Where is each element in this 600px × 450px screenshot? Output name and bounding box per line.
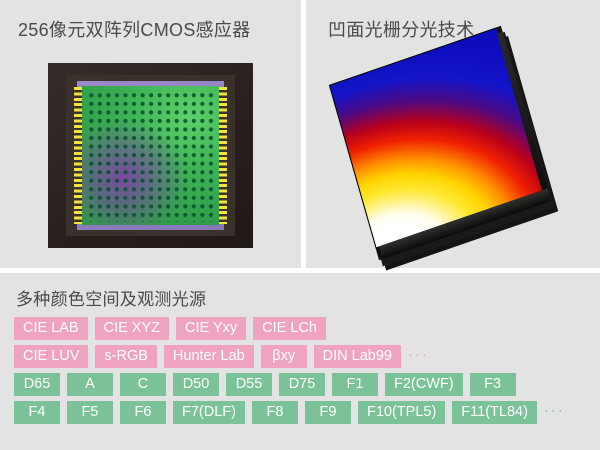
tag-cie-xyz[interactable]: CIE XYZ xyxy=(95,317,169,340)
concave-grating-illustration xyxy=(331,30,576,250)
tag-f8[interactable]: F8 xyxy=(252,401,298,424)
tag-row-ellipsis[interactable]: ··· xyxy=(544,403,565,422)
tag-s-rgb[interactable]: s-RGB xyxy=(95,345,157,368)
tag-cie-lab[interactable]: CIE LAB xyxy=(14,317,88,340)
tag-cie-lch[interactable]: CIE LCh xyxy=(253,317,326,340)
tag-d75[interactable]: D75 xyxy=(279,373,325,396)
tag-d55[interactable]: D55 xyxy=(226,373,272,396)
tag-row: D65ACD50D55D75F1F2(CWF)F3 xyxy=(14,373,594,396)
tag-f10-tpl5[interactable]: F10(TPL5) xyxy=(358,401,445,424)
tag-row: CIE LABCIE XYZCIE YxyCIE LCh xyxy=(14,317,594,340)
tag-f7-dlf[interactable]: F7(DLF) xyxy=(173,401,245,424)
tag-hunter-lab[interactable]: Hunter Lab xyxy=(164,345,254,368)
tag-row: CIE LUVs-RGBHunter LabβxyDIN Lab99··· xyxy=(14,345,594,368)
grating-plate xyxy=(329,26,551,260)
tag-xy[interactable]: βxy xyxy=(261,345,307,368)
tag-group-container: CIE LABCIE XYZCIE YxyCIE LChCIE LUVs-RGB… xyxy=(14,317,594,429)
tag-f5[interactable]: F5 xyxy=(67,401,113,424)
tag-row-ellipsis[interactable]: ··· xyxy=(408,347,429,366)
sensor-pins-left xyxy=(74,87,82,224)
tag-row: F4F5F6F7(DLF)F8F9F10(TPL5)F11(TL84)··· xyxy=(14,401,594,424)
panel-cmos-sensor: 256像元双阵列CMOS感应器 xyxy=(0,0,301,268)
tag-f6[interactable]: F6 xyxy=(120,401,166,424)
tag-c[interactable]: C xyxy=(120,373,166,396)
tag-f1[interactable]: F1 xyxy=(332,373,378,396)
page-title-cmos-sensor: 256像元双阵列CMOS感应器 xyxy=(18,16,251,42)
tag-d65[interactable]: D65 xyxy=(14,373,60,396)
page-title-color-spaces: 多种颜色空间及观测光源 xyxy=(16,285,206,310)
sensor-pins-right xyxy=(219,87,227,224)
sensor-photodiode-array xyxy=(82,86,219,225)
tag-f9[interactable]: F9 xyxy=(305,401,351,424)
tag-f3[interactable]: F3 xyxy=(470,373,516,396)
product-feature-board: 256像元双阵列CMOS感应器 凹面光栅分光技术 多种颜色空间及观测光源 CIE… xyxy=(0,0,600,450)
tag-f4[interactable]: F4 xyxy=(14,401,60,424)
cmos-sensor-illustration xyxy=(48,63,253,248)
tag-cie-luv[interactable]: CIE LUV xyxy=(14,345,88,368)
panel-color-spaces-illuminants: 多种颜色空间及观测光源 CIE LABCIE XYZCIE YxyCIE LCh… xyxy=(0,273,600,450)
sensor-pixel-dot-matrix xyxy=(85,89,216,222)
grating-spectrum-surface xyxy=(329,27,544,249)
tag-d50[interactable]: D50 xyxy=(173,373,219,396)
panel-concave-grating: 凹面光栅分光技术 xyxy=(306,0,600,268)
tag-din-lab99[interactable]: DIN Lab99 xyxy=(314,345,401,368)
tag-a[interactable]: A xyxy=(67,373,113,396)
tag-cie-yxy[interactable]: CIE Yxy xyxy=(176,317,246,340)
tag-f11-tl84[interactable]: F11(TL84) xyxy=(452,401,537,424)
tag-f2-cwf[interactable]: F2(CWF) xyxy=(385,373,463,396)
